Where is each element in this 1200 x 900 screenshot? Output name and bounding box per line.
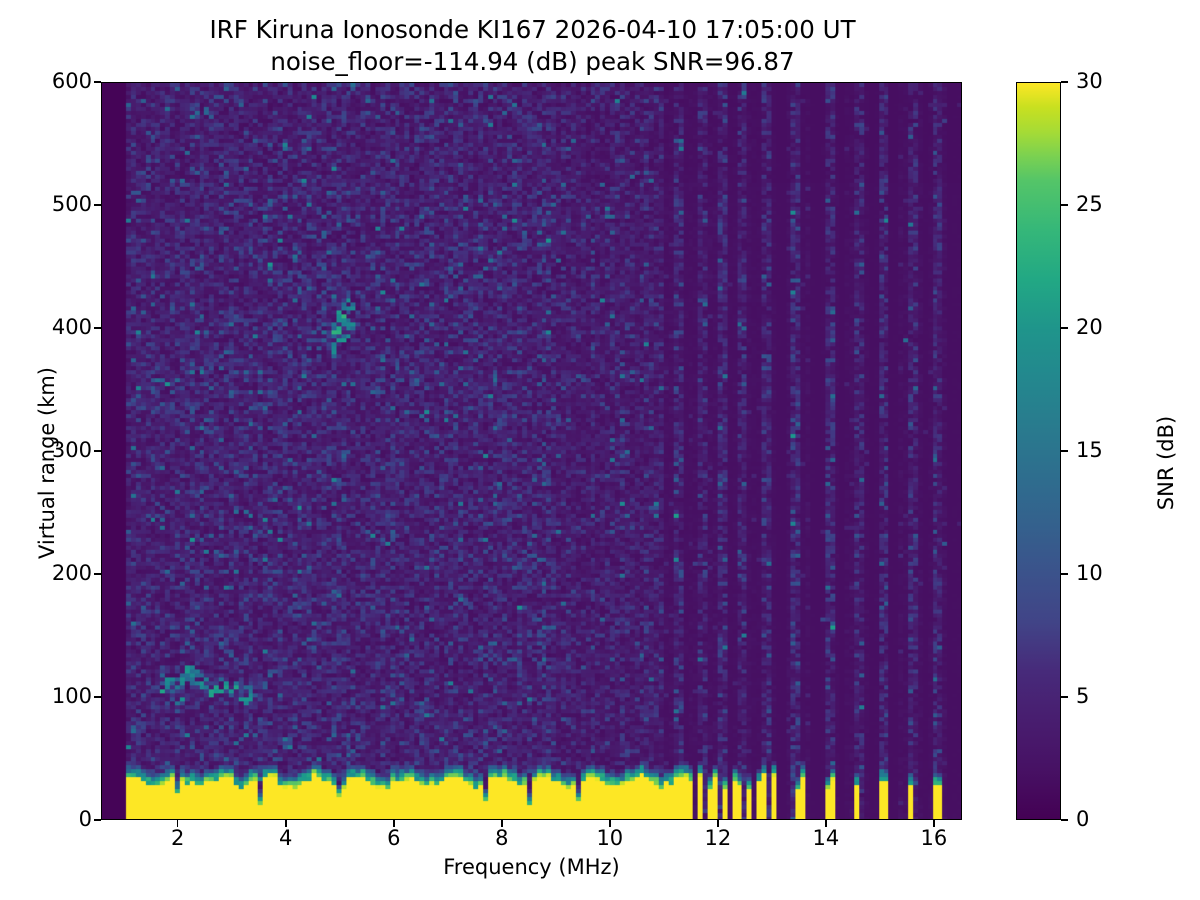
colorbar-tick-label: 30 [1076,71,1136,92]
x-axis-tick-label: 8 [462,828,542,849]
colorbar-tick-mark [1061,696,1068,698]
y-axis-label: Virtual range (km) [35,333,59,593]
colorbar-tick-label: 20 [1076,317,1136,338]
colorbar-tick-mark [1061,204,1068,206]
colorbar-tick-label: 15 [1076,440,1136,461]
figure-title: IRF Kiruna Ionosonde KI167 2026-04-10 17… [0,14,1065,78]
x-axis-tick-label: 16 [894,828,974,849]
y-axis-tick-label: 500 [0,194,92,215]
colorbar [1016,82,1061,820]
x-axis-tick-label: 6 [354,828,434,849]
x-axis-tick-mark [825,820,827,827]
x-axis-tick-label: 14 [786,828,866,849]
x-axis-label: Frequency (MHz) [101,855,962,879]
colorbar-tick-label: 10 [1076,563,1136,584]
colorbar-tick-mark [1061,327,1068,329]
y-axis-tick-label: 400 [0,317,92,338]
colorbar-tick-mark [1061,81,1068,83]
colorbar-tick-label: 0 [1076,809,1136,830]
x-axis-tick-label: 4 [246,828,326,849]
x-axis-tick-mark [933,820,935,827]
x-axis-tick-mark [177,820,179,827]
y-axis-tick-label: 300 [0,440,92,461]
ionogram-plot-area[interactable] [101,82,962,820]
y-axis-tick-mark [94,204,101,206]
x-axis-tick-mark [393,820,395,827]
y-axis-tick-mark [94,327,101,329]
ionogram-figure: IRF Kiruna Ionosonde KI167 2026-04-10 17… [0,0,1200,900]
colorbar-tick-mark [1061,819,1068,821]
y-axis-tick-mark [94,696,101,698]
y-axis-tick-label: 0 [0,809,92,830]
y-axis-tick-mark [94,819,101,821]
colorbar-tick-label: 5 [1076,686,1136,707]
x-axis-tick-mark [501,820,503,827]
x-axis-tick-mark [717,820,719,827]
x-axis-tick-label: 2 [138,828,218,849]
y-axis-tick-mark [94,81,101,83]
x-axis-tick-mark [609,820,611,827]
colorbar-tick-label: 25 [1076,194,1136,215]
ionogram-heatmap [102,83,961,819]
y-axis-tick-label: 100 [0,686,92,707]
colorbar-label: SNR (dB) [1154,333,1178,593]
colorbar-tick-mark [1061,450,1068,452]
y-axis-tick-label: 200 [0,563,92,584]
y-axis-tick-label: 600 [0,71,92,92]
x-axis-tick-label: 12 [678,828,758,849]
x-axis-tick-mark [285,820,287,827]
x-axis-tick-label: 10 [570,828,650,849]
colorbar-tick-mark [1061,573,1068,575]
y-axis-tick-mark [94,573,101,575]
y-axis-tick-mark [94,450,101,452]
